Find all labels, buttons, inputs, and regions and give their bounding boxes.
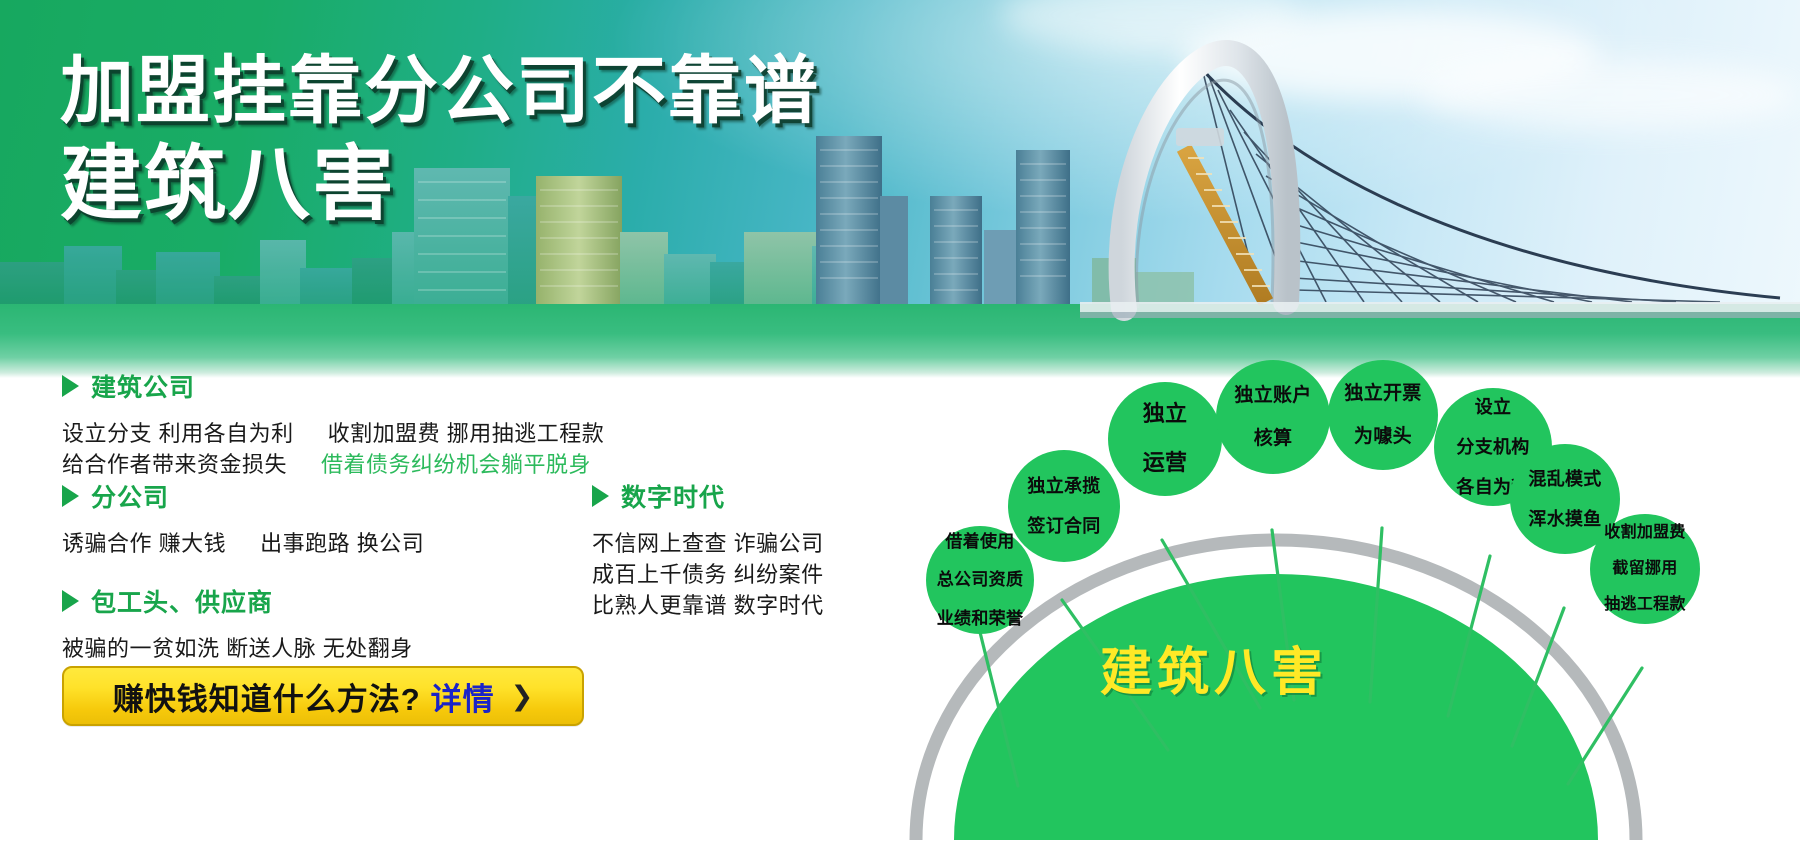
- cta-button[interactable]: 赚快钱知道什么方法? 详情 ❯: [62, 666, 584, 726]
- section-title: 分公司: [91, 478, 169, 514]
- dome-center-label: 建筑八害: [1100, 630, 1328, 705]
- section-text-row: 比熟人更靠谱 数字时代: [592, 590, 824, 621]
- title-line-2: 建筑八害: [60, 142, 820, 229]
- triangle-bullet-icon: [62, 485, 79, 507]
- bubble-line: 总公司资质: [933, 570, 1028, 589]
- section-heading: 分公司: [62, 478, 424, 514]
- bubble-line: 浑水摸鱼: [1524, 509, 1605, 529]
- bubble-item[interactable]: 独立 运营: [1108, 382, 1222, 496]
- bubble-line: 独立账户: [1230, 385, 1315, 406]
- bubble-line: 设立: [1452, 397, 1533, 417]
- section-heading: 建筑公司: [62, 368, 604, 404]
- bridge-illustration: [1080, 40, 1800, 340]
- text-b: 出事跑路 换公司: [260, 531, 424, 556]
- content-left: 建筑公司 设立分支 利用各自为利收割加盟费 挪用抽逃工程款 给合作者带来资金损失…: [0, 378, 900, 844]
- chevron-right-icon: ❯: [511, 681, 534, 712]
- text-highlight: 借着债务纠纷机会躺平脱身: [321, 452, 591, 477]
- bubble-line: 独立: [1139, 402, 1192, 427]
- bubble-line: 核算: [1230, 428, 1315, 449]
- section-heading: 数字时代: [592, 478, 824, 514]
- section-text-row: 诱骗合作 赚大钱出事跑路 换公司: [62, 528, 424, 559]
- section-text-row: 给合作者带来资金损失借着债务纠纷机会躺平脱身: [62, 449, 604, 480]
- section-construction-company: 建筑公司 设立分支 利用各自为利收割加盟费 挪用抽逃工程款 给合作者带来资金损失…: [62, 368, 604, 480]
- section-heading: 包工头、供应商: [62, 583, 413, 619]
- bubble-item[interactable]: 独立承揽 签订合同: [1008, 450, 1120, 562]
- section-title: 数字时代: [621, 478, 725, 514]
- section-text-row: 成百上千债务 纠纷案件: [592, 559, 824, 590]
- bubble-line: 分支机构: [1452, 437, 1533, 457]
- section-text-row: 被骗的一贫如洗 断送人脉 无处翻身: [62, 633, 413, 664]
- text-a: 诱骗合作 赚大钱: [62, 531, 226, 556]
- bubble-line: 业绩和荣誉: [933, 609, 1028, 628]
- bubble-line: 抽逃工程款: [1600, 596, 1690, 614]
- bubble-line: 混乱模式: [1524, 469, 1605, 489]
- bubble-line: 独立承揽: [1023, 476, 1104, 496]
- page-title: 加盟挂靠分公司不靠谱 建筑八害: [60, 52, 820, 229]
- bubble-line: 为噱头: [1340, 426, 1425, 447]
- title-line-1: 加盟挂靠分公司不靠谱: [60, 52, 820, 130]
- section-text-row: 设立分支 利用各自为利收割加盟费 挪用抽逃工程款: [62, 418, 604, 449]
- bubble-line: 收割加盟费: [1600, 524, 1690, 542]
- cta-label: 赚快钱知道什么方法?: [113, 674, 421, 719]
- bubble-item[interactable]: 借着使用 总公司资质 业绩和荣誉: [926, 526, 1034, 634]
- cta-detail-link[interactable]: 详情: [431, 674, 495, 719]
- hero-banner: 加盟挂靠分公司不靠谱 建筑八害: [0, 0, 1800, 378]
- triangle-bullet-icon: [62, 590, 79, 612]
- bubble-line: 借着使用: [933, 532, 1028, 551]
- bubble-item[interactable]: 独立开票 为噱头: [1328, 360, 1438, 470]
- triangle-bullet-icon: [62, 375, 79, 397]
- triangle-bullet-icon: [592, 485, 609, 507]
- section-contractor-supplier: 包工头、供应商 被骗的一贫如洗 断送人脉 无处翻身: [62, 583, 413, 664]
- bubble-line: 截留挪用: [1600, 560, 1690, 578]
- bubble-item[interactable]: 独立账户 核算: [1216, 360, 1330, 474]
- bubble-line: 独立开票: [1340, 383, 1425, 404]
- section-branch-company: 分公司 诱骗合作 赚大钱出事跑路 换公司: [62, 478, 424, 559]
- bubble-line: 签订合同: [1023, 516, 1104, 536]
- text-b: 收割加盟费 挪用抽逃工程款: [328, 421, 605, 446]
- bubble-line: 运营: [1139, 451, 1192, 476]
- poster-root: 加盟挂靠分公司不靠谱 建筑八害 建筑公司 设立分支 利用各自为利收割加盟费 挪用…: [0, 0, 1800, 844]
- section-digital-era: 数字时代 不信网上查查 诈骗公司 成百上千债务 纠纷案件 比熟人更靠谱 数字时代: [592, 478, 824, 622]
- text-a: 设立分支 利用各自为利: [62, 421, 294, 446]
- text-a: 给合作者带来资金损失: [62, 452, 287, 477]
- section-title: 包工头、供应商: [91, 583, 273, 619]
- section-title: 建筑公司: [91, 368, 195, 404]
- bubble-item[interactable]: 收割加盟费 截留挪用 抽逃工程款: [1590, 514, 1700, 624]
- section-text-row: 不信网上查查 诈骗公司: [592, 528, 824, 559]
- dome-diagram: 借着使用 总公司资质 业绩和荣誉 独立承揽 签订合同 独立 运营 独立账户 核算: [900, 378, 1800, 844]
